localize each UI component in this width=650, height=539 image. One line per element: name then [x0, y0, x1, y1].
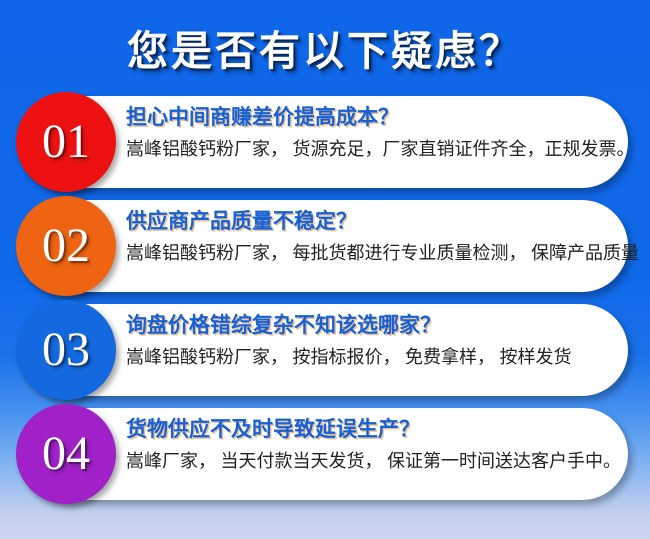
badge-number-label: 04: [42, 430, 90, 478]
question-heading: 货物供应不及时导致延误生产？: [126, 416, 616, 444]
card-text-block: 供应商产品质量不稳定？ 嵩峰铝酸钙粉厂家， 每批货都进行专业质量检测， 保障产品…: [126, 208, 616, 267]
question-answer: 嵩峰厂家， 当天付款当天发货， 保证第一时间送达客户手中。: [126, 449, 616, 474]
question-card: 04 货物供应不及时导致延误生产？ 嵩峰厂家， 当天付款当天发货， 保证第一时间…: [22, 408, 628, 500]
question-heading: 供应商产品质量不稳定？: [126, 208, 616, 236]
badge-number-label: 03: [42, 326, 90, 374]
question-heading: 询盘价格错综复杂不知该选哪家？: [126, 312, 616, 340]
badge-number-label: 02: [42, 222, 90, 270]
card-text-block: 货物供应不及时导致延误生产？ 嵩峰厂家， 当天付款当天发货， 保证第一时间送达客…: [126, 416, 616, 475]
question-answer: 嵩峰铝酸钙粉厂家， 每批货都进行专业质量检测， 保障产品质量: [126, 241, 616, 266]
number-badge: 02: [16, 196, 116, 296]
question-card: 01 担心中间商赚差价提高成本？ 嵩峰铝酸钙粉厂家， 货源充足，厂家直销证件齐全…: [22, 96, 628, 188]
poster-title-band: 您是否有以下疑虑？: [0, 20, 650, 82]
promo-poster: 您是否有以下疑虑？ 01 担心中间商赚差价提高成本？ 嵩峰铝酸钙粉厂家， 货源充…: [0, 0, 650, 539]
question-answer: 嵩峰铝酸钙粉厂家， 货源充足，厂家直销证件齐全，正规发票。: [126, 137, 616, 162]
question-card: 03 询盘价格错综复杂不知该选哪家？ 嵩峰铝酸钙粉厂家， 按指标报价， 免费拿样…: [22, 304, 628, 396]
card-text-block: 询盘价格错综复杂不知该选哪家？ 嵩峰铝酸钙粉厂家， 按指标报价， 免费拿样， 按…: [126, 312, 616, 371]
page-title: 您是否有以下疑虑？: [127, 31, 523, 72]
question-answer: 嵩峰铝酸钙粉厂家， 按指标报价， 免费拿样， 按样发货: [126, 345, 616, 370]
number-badge: 03: [16, 300, 116, 400]
card-text-block: 担心中间商赚差价提高成本？ 嵩峰铝酸钙粉厂家， 货源充足，厂家直销证件齐全，正规…: [126, 104, 616, 163]
badge-number-label: 01: [42, 118, 90, 166]
question-card: 02 供应商产品质量不稳定？ 嵩峰铝酸钙粉厂家， 每批货都进行专业质量检测， 保…: [22, 200, 628, 292]
number-badge: 04: [16, 404, 116, 504]
question-heading: 担心中间商赚差价提高成本？: [126, 104, 616, 132]
number-badge: 01: [16, 92, 116, 192]
